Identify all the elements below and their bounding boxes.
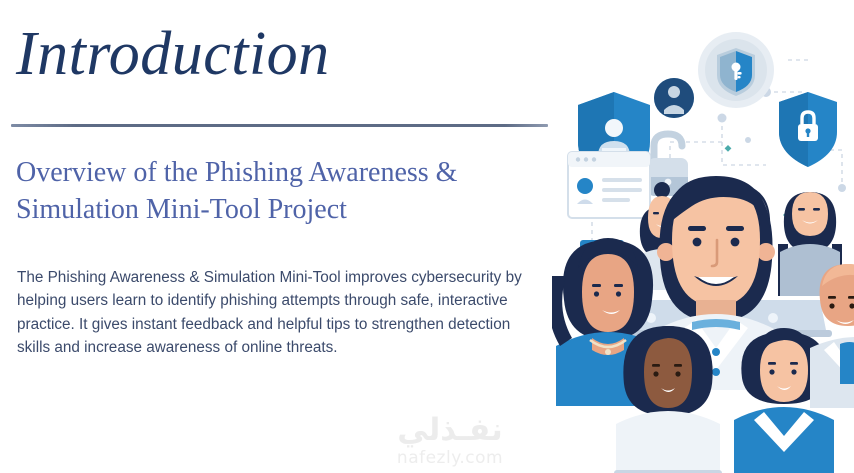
- watermark-domain-text: nafezly.com: [360, 450, 540, 467]
- user-avatar-icon: [654, 78, 694, 118]
- shield-key-badge-icon: [698, 32, 774, 108]
- title-divider: [11, 124, 548, 127]
- slide-canvas: Introduction Overview of the Phishing Aw…: [0, 0, 854, 473]
- watermark: نفـذلي nafezly.com: [360, 415, 540, 467]
- slide-body-text: The Phishing Awareness & Simulation Mini…: [17, 266, 541, 359]
- browser-card-icon: [568, 152, 650, 218]
- text-column: Introduction Overview of the Phishing Aw…: [0, 0, 560, 473]
- watermark-arabic-text: نفـذلي: [360, 415, 540, 446]
- page-title: Introduction: [16, 22, 330, 87]
- slide-subtitle: Overview of the Phishing Awareness & Sim…: [16, 155, 544, 229]
- person-front-center: [614, 326, 722, 473]
- cybersecurity-team-illustration: [552, 0, 854, 473]
